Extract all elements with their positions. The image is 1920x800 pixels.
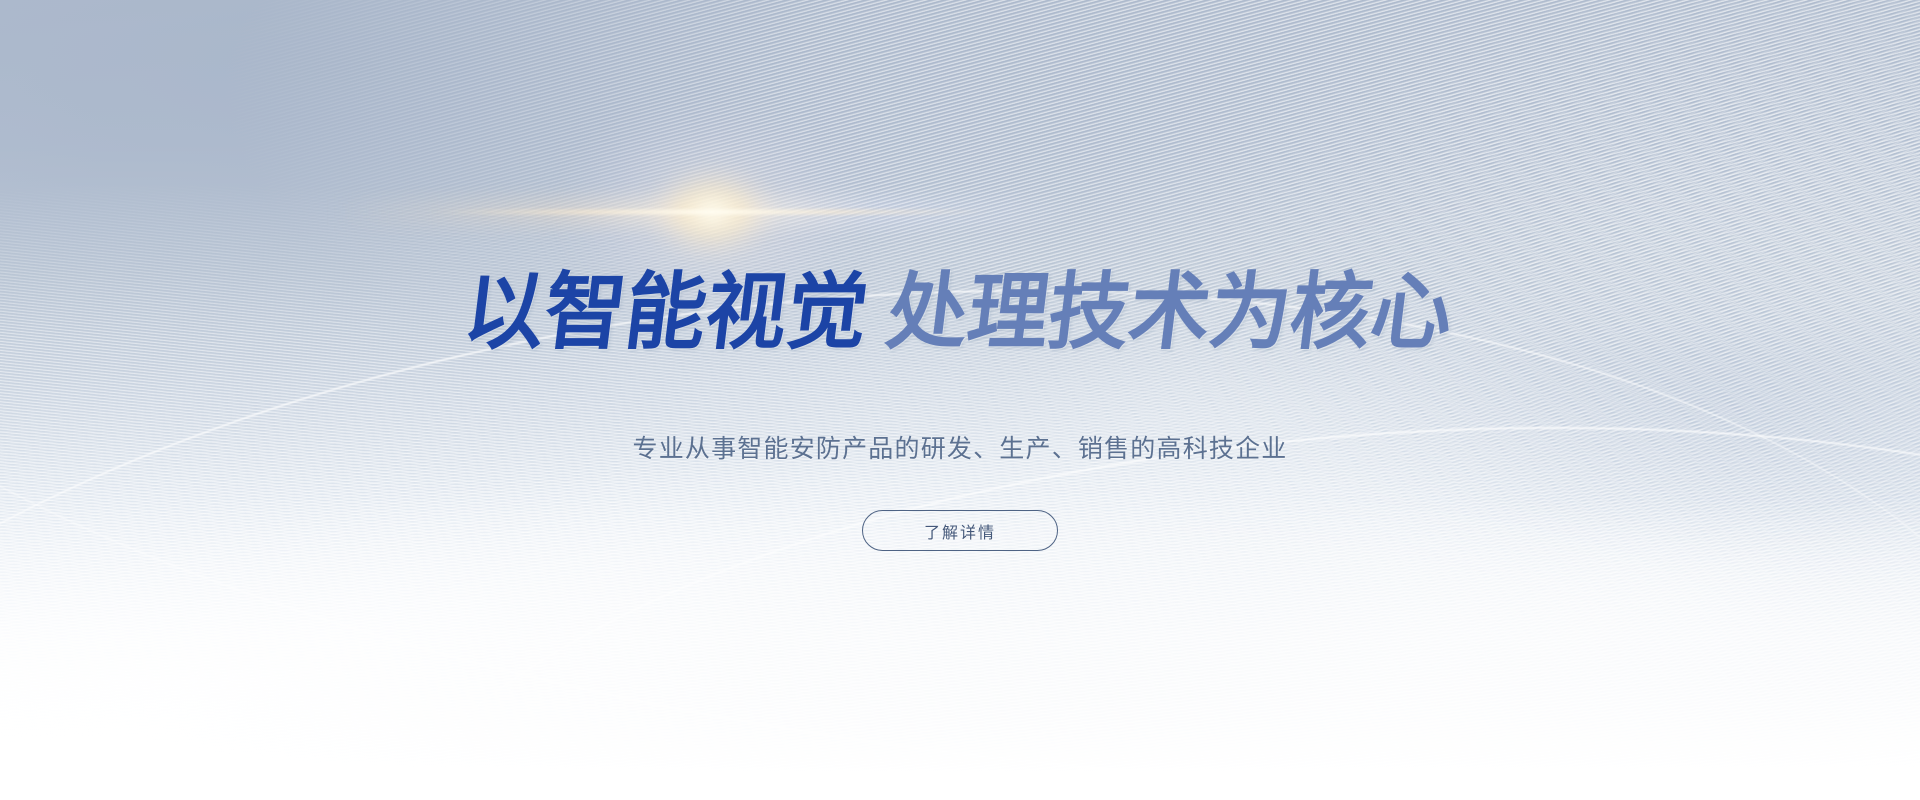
headline-highlight: 以智能视觉 — [459, 270, 873, 354]
hero-banner: 以智能视觉处理技术为核心 专业从事智能安防产品的研发、生产、销售的高科技企业 了… — [0, 0, 1920, 800]
banner-content: 以智能视觉处理技术为核心 专业从事智能安防产品的研发、生产、销售的高科技企业 了… — [0, 0, 1920, 800]
headline-muted: 处理技术为核心 — [883, 270, 1458, 354]
banner-subtitle: 专业从事智能安防产品的研发、生产、销售的高科技企业 — [632, 429, 1287, 465]
banner-headline: 以智能视觉处理技术为核心 — [456, 270, 1464, 354]
learn-more-button[interactable]: 了解详情 — [862, 510, 1058, 551]
